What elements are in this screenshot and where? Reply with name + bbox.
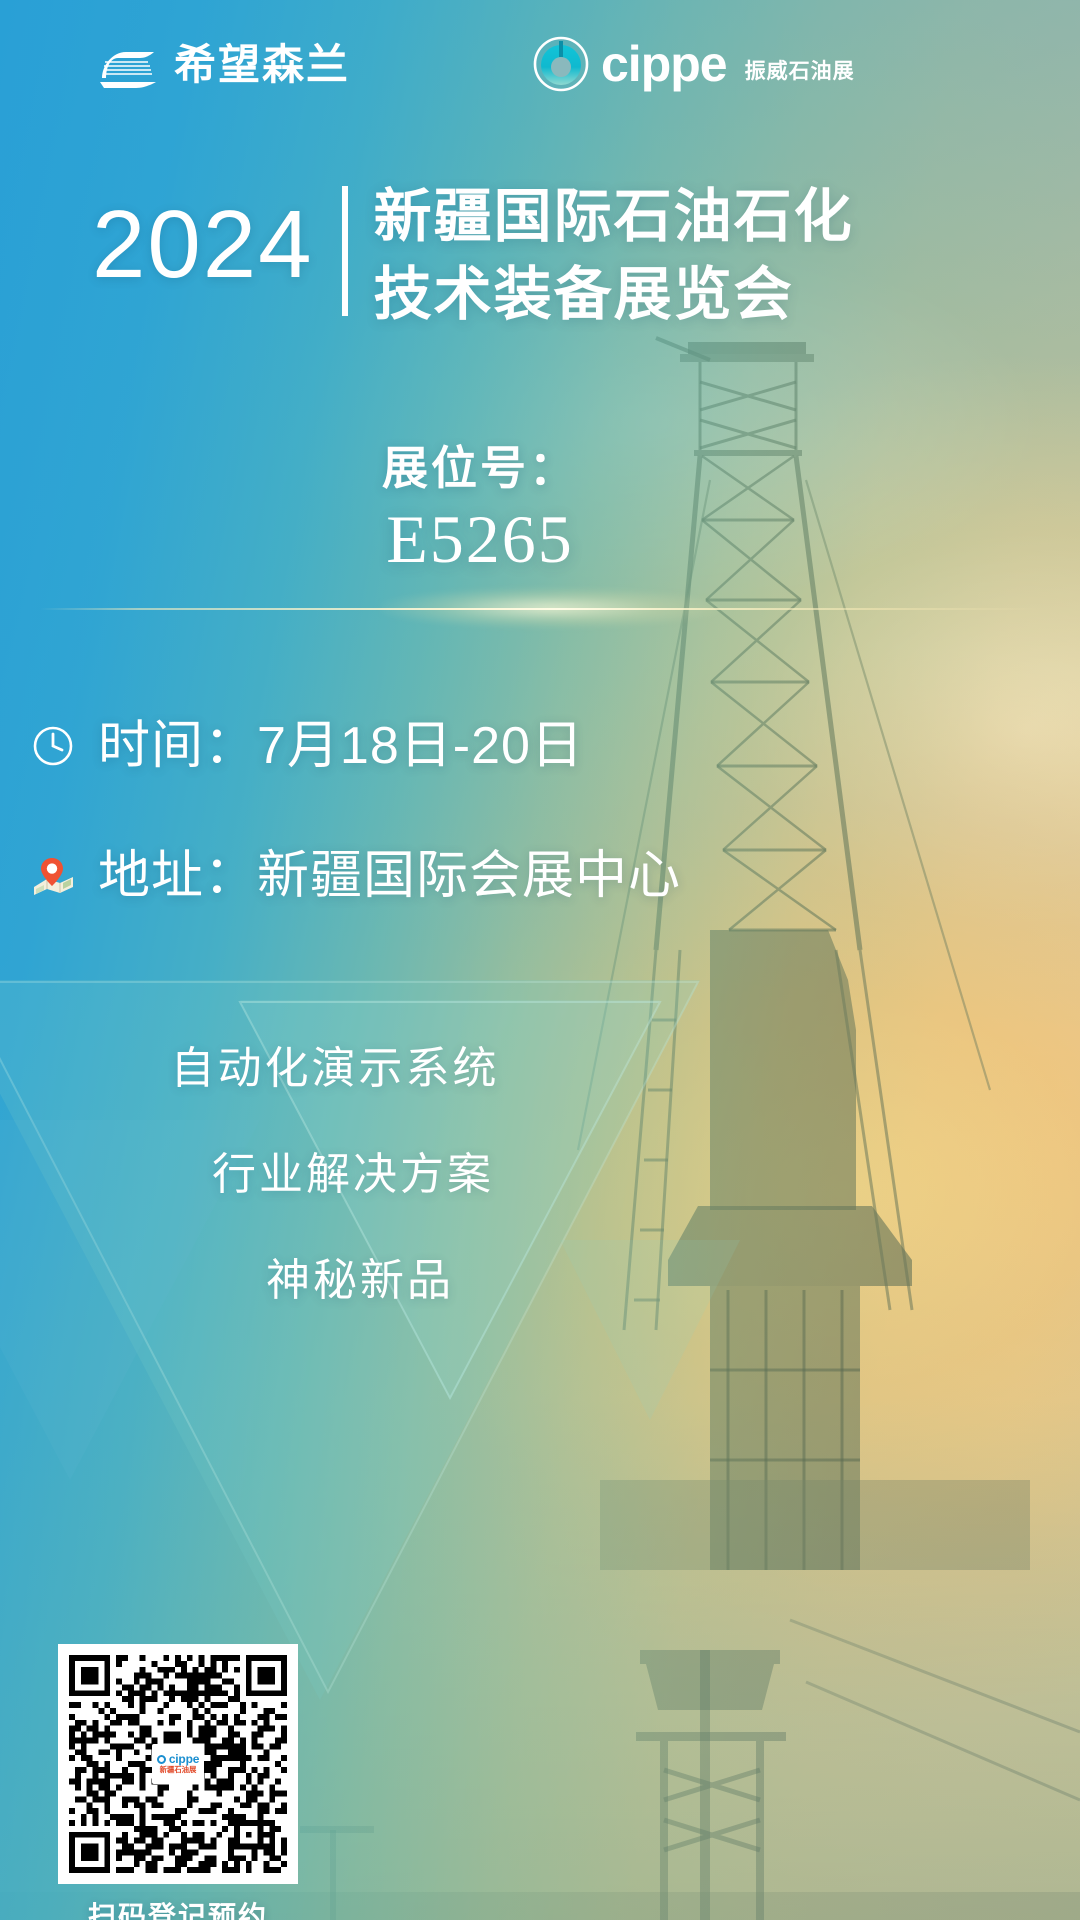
company-logo[interactable]: 希望森兰 — [98, 42, 350, 88]
qr-caption: 扫码登记预约 — [58, 1900, 298, 1920]
info-list: 时间：7月18日-20日 地址：新疆国际会展中心 — [22, 700, 842, 922]
info-text-time: 时间：7月18日-20日 — [98, 715, 584, 777]
title-year: 2024 — [92, 180, 314, 310]
map-pin-icon — [30, 853, 76, 899]
cippe-chinese-name: 振威石油展 — [745, 60, 855, 92]
company-logo-text: 希望森兰 — [174, 42, 350, 88]
cippe-dot-icon — [157, 1755, 166, 1764]
title-line-2: 技术装备展览会 — [374, 262, 854, 328]
feature-item-3: 神秘新品 — [0, 1252, 640, 1310]
title-line-1: 新疆国际石油石化 — [374, 184, 854, 250]
booth-label: 展位号： — [0, 440, 1080, 496]
title-lines: 新疆国际石油石化 技术装备展览会 — [374, 180, 854, 328]
booth-block: 展位号： E5265 — [0, 440, 1080, 582]
info-row-time: 时间：7月18日-20日 — [22, 700, 842, 792]
feature-item-1: 自动化演示系统 — [0, 1040, 640, 1098]
title-divider-rule — [342, 186, 348, 316]
qr-code[interactable]: cippe 新疆石油展 — [58, 1644, 298, 1884]
header-bar: 希望森兰 — [0, 0, 1080, 120]
xiwang-senlan-mark-icon — [98, 42, 158, 88]
qr-badge-chinese: 新疆石油展 — [160, 1765, 197, 1774]
info-row-address: 地址：新疆国际会展中心 — [22, 830, 842, 922]
qr-badge-row: cippe — [157, 1753, 199, 1765]
clock-icon — [30, 723, 76, 769]
divider-line — [40, 608, 1040, 610]
feature-item-2: 行业解决方案 — [0, 1146, 640, 1204]
qr-badge-word: cippe — [169, 1753, 199, 1765]
glow-divider — [40, 604, 1040, 614]
cippe-ring-icon — [533, 36, 589, 92]
info-text-address: 地址：新疆国际会展中心 — [98, 845, 681, 907]
qr-block[interactable]: cippe 新疆石油展 扫码登记预约 — [58, 1644, 298, 1920]
feature-list: 自动化演示系统 行业解决方案 神秘新品 — [0, 1040, 640, 1310]
qr-center-logo: cippe 新疆石油展 — [152, 1744, 204, 1784]
title-block: 2024 新疆国际石油石化 技术装备展览会 — [92, 180, 854, 328]
cippe-wordmark: cippe — [601, 38, 727, 90]
poster-canvas: 希望森兰 — [0, 0, 1080, 1920]
exhibition-logo[interactable]: cippe 振威石油展 — [533, 36, 855, 92]
booth-number: E5265 — [0, 496, 1080, 582]
